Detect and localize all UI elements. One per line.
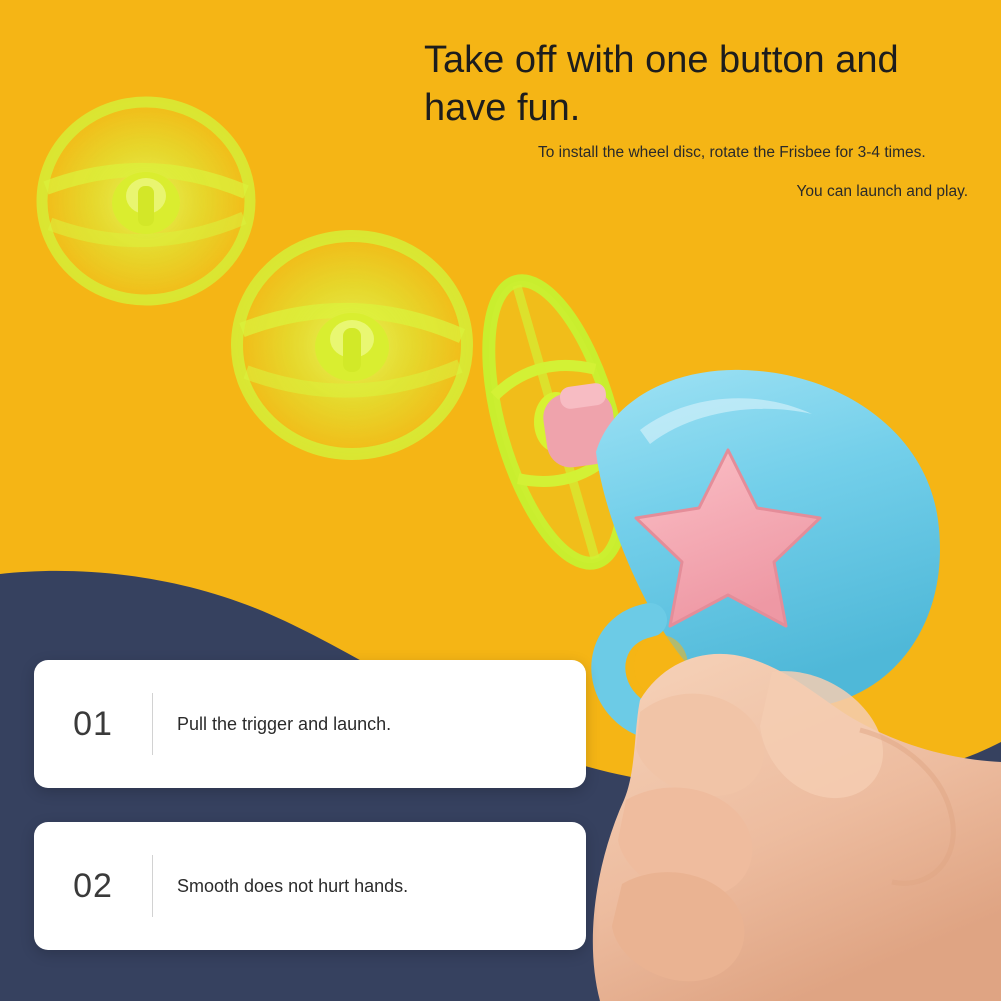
step-number: 02 bbox=[34, 867, 152, 906]
step-number: 01 bbox=[34, 705, 152, 744]
step-text: Smooth does not hurt hands. bbox=[153, 874, 408, 899]
step-card-02: 02 Smooth does not hurt hands. bbox=[34, 822, 586, 950]
sub-text-launch: You can launch and play. bbox=[538, 181, 968, 202]
step-text: Pull the trigger and launch. bbox=[153, 712, 391, 737]
product-infographic: Take off with one button and have fun. T… bbox=[0, 0, 1001, 1001]
step-card-01: 01 Pull the trigger and launch. bbox=[34, 660, 586, 788]
page-headline: Take off with one button and have fun. bbox=[424, 36, 984, 132]
sub-text-install: To install the wheel disc, rotate the Fr… bbox=[538, 142, 968, 163]
